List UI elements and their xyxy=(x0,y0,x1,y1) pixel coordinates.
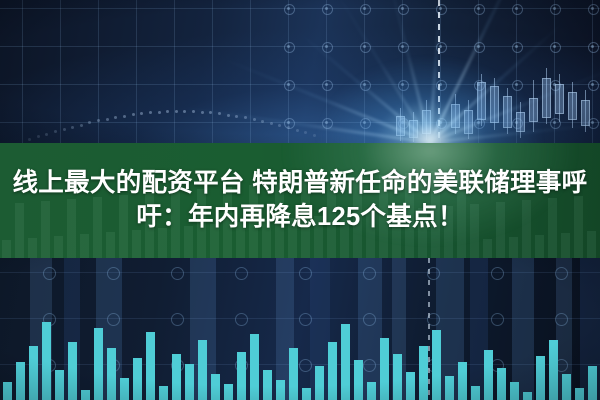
volume-bar xyxy=(510,382,519,400)
volume-bar xyxy=(94,328,103,400)
volume-bar xyxy=(497,368,506,400)
volume-bar xyxy=(419,346,428,400)
volume-bar xyxy=(341,324,350,400)
volume-bar xyxy=(133,358,142,400)
volume-bar xyxy=(406,372,415,400)
bottom-volume-scene xyxy=(0,258,600,400)
volume-bar xyxy=(55,370,64,400)
top-vignette xyxy=(0,0,600,143)
volume-bar xyxy=(42,322,51,400)
volume-bar xyxy=(185,364,194,400)
headline-line-1: 线上最大的配资平台 特朗普新任命的美联储理事呼 xyxy=(13,169,588,199)
volume-bars xyxy=(0,258,600,400)
volume-bar xyxy=(588,366,597,400)
volume-bar xyxy=(445,376,454,400)
volume-bar xyxy=(250,334,259,400)
volume-bar xyxy=(29,346,38,400)
volume-bar xyxy=(354,360,363,400)
volume-bar xyxy=(562,374,571,400)
volume-bar xyxy=(289,348,298,400)
volume-bar xyxy=(367,382,376,400)
volume-bar xyxy=(536,356,545,400)
volume-bar xyxy=(276,380,285,400)
volume-bar xyxy=(263,370,272,400)
volume-bar xyxy=(302,388,311,400)
volume-bar xyxy=(315,366,324,400)
volume-bar xyxy=(198,340,207,400)
volume-bar xyxy=(484,350,493,400)
volume-bar xyxy=(471,386,480,400)
volume-bar xyxy=(523,392,532,400)
volume-bar xyxy=(146,332,155,400)
volume-bar xyxy=(432,330,441,400)
headline-line-2: 吁：年内再降息125个基点！ xyxy=(136,203,463,233)
volume-bar xyxy=(458,362,467,400)
volume-bar xyxy=(120,378,129,400)
volume-bar xyxy=(107,348,116,400)
volume-bar xyxy=(81,390,90,400)
banner-image: 线上最大的配资平台 特朗普新任命的美联储理事呼 吁：年内再降息125个基点！ xyxy=(0,0,600,400)
volume-bar xyxy=(172,354,181,400)
volume-bar xyxy=(380,338,389,400)
volume-bar xyxy=(237,352,246,400)
volume-bar xyxy=(328,342,337,400)
volume-bar xyxy=(3,382,12,400)
volume-bar xyxy=(224,384,233,400)
volume-bar xyxy=(575,388,584,400)
volume-bar xyxy=(549,340,558,400)
top-market-scene xyxy=(0,0,600,143)
headline-block: 线上最大的配资平台 特朗普新任命的美联储理事呼 吁：年内再降息125个基点！ xyxy=(0,143,600,258)
volume-bar xyxy=(16,362,25,400)
volume-bar xyxy=(393,354,402,400)
volume-bar xyxy=(68,342,77,400)
volume-bar xyxy=(159,386,168,400)
volume-bar xyxy=(211,374,220,400)
